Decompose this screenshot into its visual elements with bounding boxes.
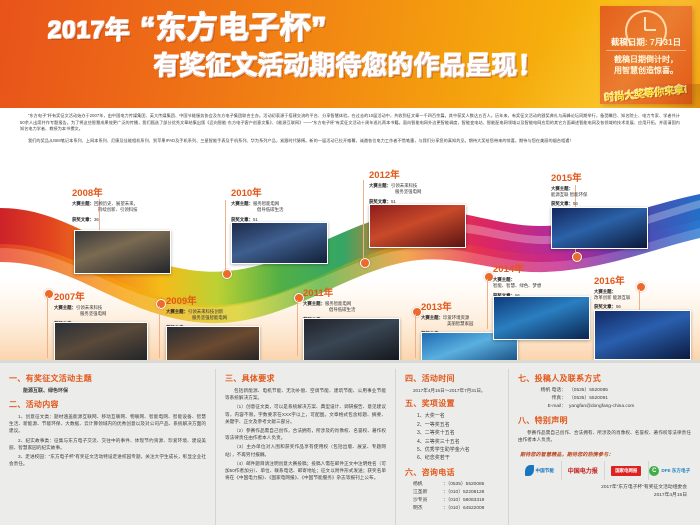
timeline-photo-2007 xyxy=(54,322,148,364)
submit-contact-fax: 传真：（0535）5520091 xyxy=(526,395,691,403)
timeline-photo-2008 xyxy=(74,230,171,274)
organizer-signature: 2017年“东方电子杯”有奖征文活动组委会 2017年4月15日 xyxy=(518,484,691,499)
timeline-year-2015: 2015年 xyxy=(551,173,656,185)
timeline-stem-2013 xyxy=(415,314,416,358)
badge-divider xyxy=(606,50,686,51)
timeline-year-2016: 2016年 xyxy=(594,276,694,288)
timeline-year-2014: 2014年 xyxy=(493,264,598,276)
timeline-photo-2015 xyxy=(551,207,648,249)
details-panel: 一、有奖征文活动主题 能源互联、绿色环保 二、活动内容 1、创意征文类：题材涵盖… xyxy=(0,360,700,525)
timeline-photo-2012 xyxy=(369,204,466,248)
timeline-dot-2015[interactable] xyxy=(572,252,582,262)
timeline-card-2015[interactable]: 2015年 大赛主题： 能源互联 智能环保 获奖文章：56 xyxy=(551,173,656,207)
award-item-1: 1、大奖一名 xyxy=(417,412,499,420)
timeline-theme-2014-line2: 智能、智慧、绿色、梦想 xyxy=(493,283,598,289)
section-3-item-2: （2）参赛作品需自己创作，合法拥有，所涉及的肖像权、名誉权、著作权等法律责任由作… xyxy=(225,427,386,441)
timeline-theme-2010-line2: 倡导低碳生活 xyxy=(231,207,336,213)
page-title: 2017年“东方电子杯” xyxy=(44,12,564,48)
header-title-block: 2017年“东方电子杯” 有奖征文活动期待您的作品呈现！ xyxy=(44,12,564,82)
timeline-dot-2009[interactable] xyxy=(156,299,166,309)
timeline-dot-2010[interactable] xyxy=(222,269,232,279)
timeline-year-2007: 2007年 xyxy=(54,292,149,304)
timeline-card-2016[interactable]: 2016年 大赛主题： 改革创新 能源互联 获奖文章：56 xyxy=(594,276,694,310)
timeline-theme-2011-line2: 倡导低碳生活 xyxy=(303,307,408,313)
page-subtitle: 有奖征文活动期待您的作品呈现！ xyxy=(44,50,564,82)
section-1-subtitle: 能源互联、绿色环保 xyxy=(23,387,206,395)
organizer-date: 2017年4月15日 xyxy=(518,492,687,500)
header-corner-fold xyxy=(630,84,700,108)
timeline-theme-2016-line2: 改革创新 能源互联 xyxy=(594,295,694,301)
award-item-3: 3、二等奖十五名 xyxy=(417,429,499,437)
section-7-heading: 七、投稿人及联系方式 xyxy=(518,372,691,385)
timeline-photo-2016 xyxy=(594,310,691,360)
timeline-card-2010[interactable]: 2010年 大赛主题：服务智能电网 倡导低碳生活 获奖文章：51 xyxy=(231,188,336,223)
timeline-year-2010: 2010年 xyxy=(231,188,336,200)
timeline-stem-2007 xyxy=(47,296,48,358)
timeline-year-2008: 2008年 xyxy=(72,188,182,200)
details-columns: 一、有奖征文活动主题 能源互联、绿色环保 二、活动内容 1、创意征文类：题材涵盖… xyxy=(0,369,700,525)
timeline-dot-2012[interactable] xyxy=(360,258,370,268)
timeline-photo-2011 xyxy=(303,318,400,362)
award-item-5: 5、优秀学生助学金六名 xyxy=(417,446,499,454)
timeline-stem-2009 xyxy=(159,306,160,358)
section-5-heading: 五、奖项设置 xyxy=(405,397,499,410)
timeline-theme-2012-line2: 服务坚强电网 xyxy=(369,189,474,195)
section-1-heading: 一、有奖征文活动主题 xyxy=(9,372,206,385)
section-2-item-3: 3、走进校园：“东方电子杯”有奖征文活动特设走进校园专题，关注大学生成长，彰显企… xyxy=(9,453,206,467)
award-item-6: 6、纪念奖若干 xyxy=(417,454,499,462)
timeline-dot-2007[interactable] xyxy=(44,289,54,299)
timeline-stem-2012 xyxy=(363,180,364,260)
details-column-4: 七、投稿人及联系方式 杨帆 电话：（0535）5520085 传真：（0535）… xyxy=(508,369,700,525)
timeline-card-2012[interactable]: 2012年 大赛主题：引领未来科技 服务坚强电网 获奖文章：51 xyxy=(369,170,474,205)
timeline-year-2009: 2009年 xyxy=(166,296,271,308)
timeline-stem-2011 xyxy=(297,300,298,356)
timeline-card-2008[interactable]: 2008年 大赛主题：回顾历史、展望未来， 持续创新、引领科技 获奖文章：36 xyxy=(72,188,182,223)
timeline-photo-2014 xyxy=(493,296,590,340)
section-8-heading: 八、特别声明 xyxy=(518,414,691,427)
intro-paragraph-2: 我们的奖品从IBM笔记本系列、上网本系列、尼康及佳能相机系列、到苹果IPAD及手… xyxy=(20,138,680,145)
badge-subtext-line2: 用智慧创造惊喜。 xyxy=(600,65,692,76)
dongfang-electronics-logo: CDFE 东方电子 xyxy=(649,461,692,480)
section-3-item-4: （4）邮件题目请注明创意大赛投稿；投稿人需在邮件正文中注明姓名（可加50作者加分… xyxy=(225,460,386,482)
intro-paragraph-1: “东方电子”杯有奖征文活动始办于2007年，由中国电力传媒集团、英大传媒集团、中… xyxy=(20,113,680,133)
timeline-stem-2010 xyxy=(225,200,226,271)
timeline-theme-2007-line2: 服务坚强电网 xyxy=(54,311,149,317)
sponsor-strip-title: 期待您的智慧精品，期待您的热情参与： xyxy=(520,451,691,458)
contact-row-1: 杨帆：（0535）5520085 xyxy=(413,481,499,489)
recycle-icon: C xyxy=(649,466,659,476)
title-year: 2017年 xyxy=(48,17,130,44)
contact-row-4: 明杰：（010）64522008 xyxy=(413,505,499,513)
timeline-theme-2008-line2: 持续创新、引领科技 xyxy=(72,207,182,213)
details-column-3: 四、活动时间 2017年4月15日～2017年7月31日。 五、奖项设置 1、大… xyxy=(395,369,508,525)
contact-row-3: 沙专员：（010）58083319 xyxy=(413,497,499,505)
china-electric-power-news-logo: 中国电力报 xyxy=(562,461,606,480)
details-column-1: 一、有奖征文活动主题 能源互联、绿色环保 二、活动内容 1、创意征文类：题材涵盖… xyxy=(0,369,215,525)
submit-contact-email[interactable]: E-mail：yangfan@dongfang-china.com xyxy=(526,403,691,411)
badge-subtext: 截稿日期倒计时， 用智慧创造惊喜。 xyxy=(600,54,692,76)
contact-row-2: 江圣新：（010）52208128 xyxy=(413,489,499,497)
section-3-lead: 包括新能源、电机节能、无功补偿、空调节能、建筑节能、公用事业节能等系统解决方案。 xyxy=(225,387,386,401)
timeline-card-2014[interactable]: 2014年 大赛主题： 智能、智慧、绿色、梦想 获奖文章：56 xyxy=(493,264,598,299)
section-6-heading: 六、咨询电话 xyxy=(405,466,499,479)
section-2-heading: 二、活动内容 xyxy=(9,398,206,411)
timeline-photo-2010 xyxy=(231,222,328,264)
badge-subtext-line1: 截稿日期倒计时， xyxy=(600,54,692,65)
award-item-4: 4、三等奖三十五名 xyxy=(417,438,499,446)
award-item-2: 2、一等奖五名 xyxy=(417,421,499,429)
timeline-theme-2015-line2: 能源互联 智能环保 xyxy=(551,192,656,198)
timeline-count-2008: 获奖文章：36 xyxy=(72,217,182,223)
section-4-heading: 四、活动时间 xyxy=(405,372,499,385)
china-energy-conservation-logo: 中国节能 xyxy=(518,461,562,480)
timeline-stem-2014 xyxy=(487,279,488,329)
title-main: “东方电子杯” xyxy=(140,12,327,45)
organizer-name: 2017年“东方电子杯”有奖征文活动组委会 xyxy=(518,484,687,492)
energy-leaf-icon xyxy=(525,465,534,476)
details-column-2: 三、具体要求 包括新能源、电机节能、无功补偿、空调节能、建筑节能、公用事业节能等… xyxy=(215,369,395,525)
poster-header: 2017年“东方电子杯” 有奖征文活动期待您的作品呈现！ 截稿日期: 7月31日… xyxy=(0,0,700,108)
submit-contact-phone: 杨帆 电话：（0535）5520085 xyxy=(526,387,691,395)
section-2-item-2: 2、纪实故事类：征集与东方电子交流、交往中的事件、体现节约资源、珍爱环境、建设美… xyxy=(9,437,206,451)
section-3-heading: 三、具体要求 xyxy=(225,372,386,385)
state-grid-news-logo: 国家电网报 xyxy=(605,461,649,480)
section-3-item-3: （3）主办单位对入围和获奖作品享有使用权（包括出版、展览、专题网站），不再另付报… xyxy=(225,443,386,457)
timeline-year-2011: 2011年 xyxy=(303,288,408,300)
timeline-year-2012: 2012年 xyxy=(369,170,474,182)
timeline-theme-2009-line2: 服务坚强智能电网 xyxy=(166,315,271,321)
section-4-text: 2017年4月15日～2017年7月31日。 xyxy=(413,387,499,394)
poster-root: 2017年“东方电子杯” 有奖征文活动期待您的作品呈现！ 截稿日期: 7月31日… xyxy=(0,0,700,525)
section-2-item-1: 1、创意征文类：题材涵盖能源互联网、移动互联网、物联网、智能电网、智能设备、智慧… xyxy=(9,413,206,435)
intro-text: “东方电子”杯有奖征文活动始办于2007年，由中国电力传媒集团、英大传媒集团、中… xyxy=(20,113,680,149)
sponsor-logos: 中国节能 中国电力报 国家电网报 CDFE 东方电子 xyxy=(518,461,691,480)
section-3-item-1: （1）创意征文类，可以是系统解决方案、典型设计、调研报告、意见建议等，内容不限，… xyxy=(225,403,386,425)
section-8-text: 参赛作品需自己创作、合法拥有、所涉及的肖像权、名誉权、著作权等法律责任由作者本人… xyxy=(518,429,691,443)
deadline-label: 截稿日期: 7月31日 xyxy=(600,36,692,48)
